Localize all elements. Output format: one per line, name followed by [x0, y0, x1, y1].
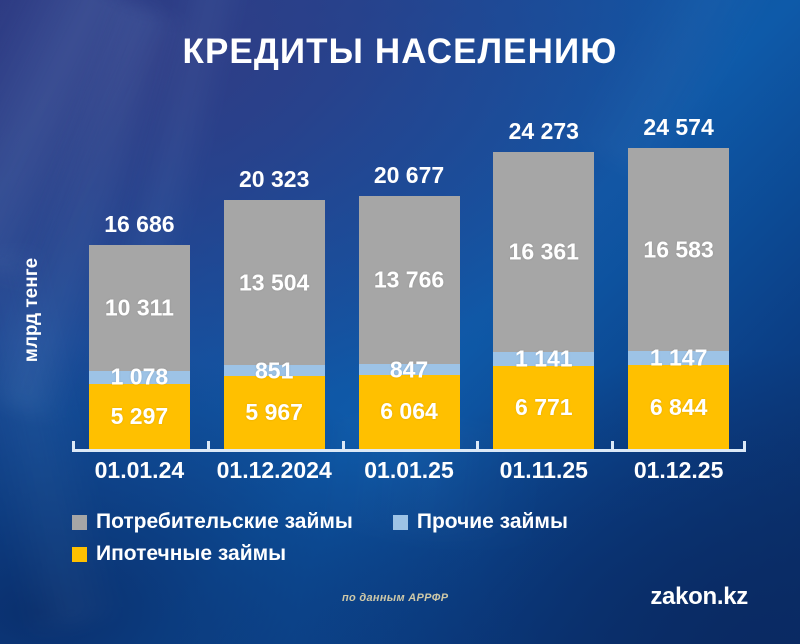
bar-segment-label: 10 311 [105, 294, 174, 321]
bar-total-label: 16 686 [104, 211, 174, 238]
legend-swatch-other-icon [393, 515, 408, 530]
bar-segment-other[interactable]: 1 141 [493, 352, 594, 366]
bar-segment-other[interactable]: 847 [359, 364, 460, 374]
legend-swatch-mortgage-icon [72, 547, 87, 562]
bar-segment-other[interactable]: 1 078 [89, 371, 190, 384]
bar-segment-consumer[interactable]: 10 311 [89, 245, 190, 371]
bar-segment-label: 13 504 [239, 269, 309, 296]
brand-logo: zakon.kz [650, 583, 748, 611]
bar-segment-mortgage[interactable]: 5 967 [224, 376, 325, 449]
bar-total-label: 24 574 [643, 114, 713, 141]
legend-row-secondary: Ипотечные займы [72, 538, 772, 570]
bar-segment-label: 16 583 [643, 236, 713, 263]
bar-segment-mortgage[interactable]: 6 844 [628, 365, 729, 449]
bar-segment-label: 1 141 [515, 346, 573, 373]
bar-segment-consumer[interactable]: 13 766 [359, 196, 460, 365]
bar-group[interactable]: 20 67713 7668476 064 [359, 196, 460, 449]
x-axis-tick [743, 441, 746, 450]
x-axis-tick-label: 01.01.25 [364, 457, 454, 484]
x-axis-tick-label: 01.01.24 [95, 457, 185, 484]
legend-item-consumer-loans[interactable]: Потребительские займы [72, 510, 353, 534]
chart-title: КРЕДИТЫ НАСЕЛЕНИЮ [0, 32, 800, 72]
bar-segment-mortgage[interactable]: 6 064 [359, 375, 460, 449]
x-axis-tick-label: 01.12.2024 [217, 457, 332, 484]
bar-segment-consumer[interactable]: 16 583 [628, 148, 729, 351]
bar-segment-label: 1 078 [111, 364, 169, 391]
x-axis-tick [611, 441, 614, 450]
legend-label-other: Прочие займы [417, 510, 568, 534]
bar-segment-other[interactable]: 1 147 [628, 351, 729, 365]
bar-segment-label: 847 [390, 356, 428, 383]
bar-segment-consumer[interactable]: 13 504 [224, 200, 325, 365]
bar-segment-label: 6 064 [380, 398, 438, 425]
bar-segment-label: 6 771 [515, 394, 573, 421]
bar-segment-consumer[interactable]: 16 361 [493, 152, 594, 352]
x-axis-tick-label: 01.12.25 [634, 457, 724, 484]
legend-label-mortgage: Ипотечные займы [96, 542, 286, 566]
bar-segment-label: 5 967 [245, 399, 303, 426]
bar-segment-mortgage[interactable]: 5 297 [89, 384, 190, 449]
bar-segment-label: 13 766 [374, 267, 444, 294]
y-axis-label: млрд тенге [21, 258, 43, 362]
legend-row-primary: Потребительские займы Прочие займы [72, 506, 772, 538]
legend-swatch-consumer-icon [72, 515, 87, 530]
x-axis-line [72, 449, 746, 452]
chart-legend: Потребительские займы Прочие займы Ипоте… [72, 506, 772, 570]
x-axis-tick [342, 441, 345, 450]
x-axis-tick [207, 441, 210, 450]
bar-segment-label: 1 147 [650, 345, 708, 372]
bar-segment-label: 5 297 [111, 403, 169, 430]
bar-total-label: 24 273 [509, 118, 579, 145]
bar-segment-other[interactable]: 851 [224, 365, 325, 375]
source-note: по данным АРРФР [342, 592, 448, 604]
bar-segment-mortgage[interactable]: 6 771 [493, 366, 594, 449]
bar-group[interactable]: 24 27316 3611 1416 771 [493, 152, 594, 449]
x-axis-tick [476, 441, 479, 450]
bar-total-label: 20 677 [374, 162, 444, 189]
bar-group[interactable]: 24 57416 5831 1476 844 [628, 148, 729, 449]
x-axis-tick [72, 441, 75, 450]
bar-total-label: 20 323 [239, 166, 309, 193]
bar-segment-label: 851 [255, 357, 293, 384]
bar-segment-label: 6 844 [650, 394, 708, 421]
bar-group[interactable]: 20 32313 5048515 967 [224, 200, 325, 449]
x-axis-tick-label: 01.11.25 [500, 457, 588, 484]
legend-label-consumer: Потребительские займы [96, 510, 353, 534]
legend-item-mortgage-loans[interactable]: Ипотечные займы [72, 542, 286, 566]
bar-group[interactable]: 16 68610 3111 0785 297 [89, 245, 190, 449]
bar-segment-label: 16 361 [509, 238, 579, 265]
legend-item-other-loans[interactable]: Прочие займы [393, 510, 568, 534]
